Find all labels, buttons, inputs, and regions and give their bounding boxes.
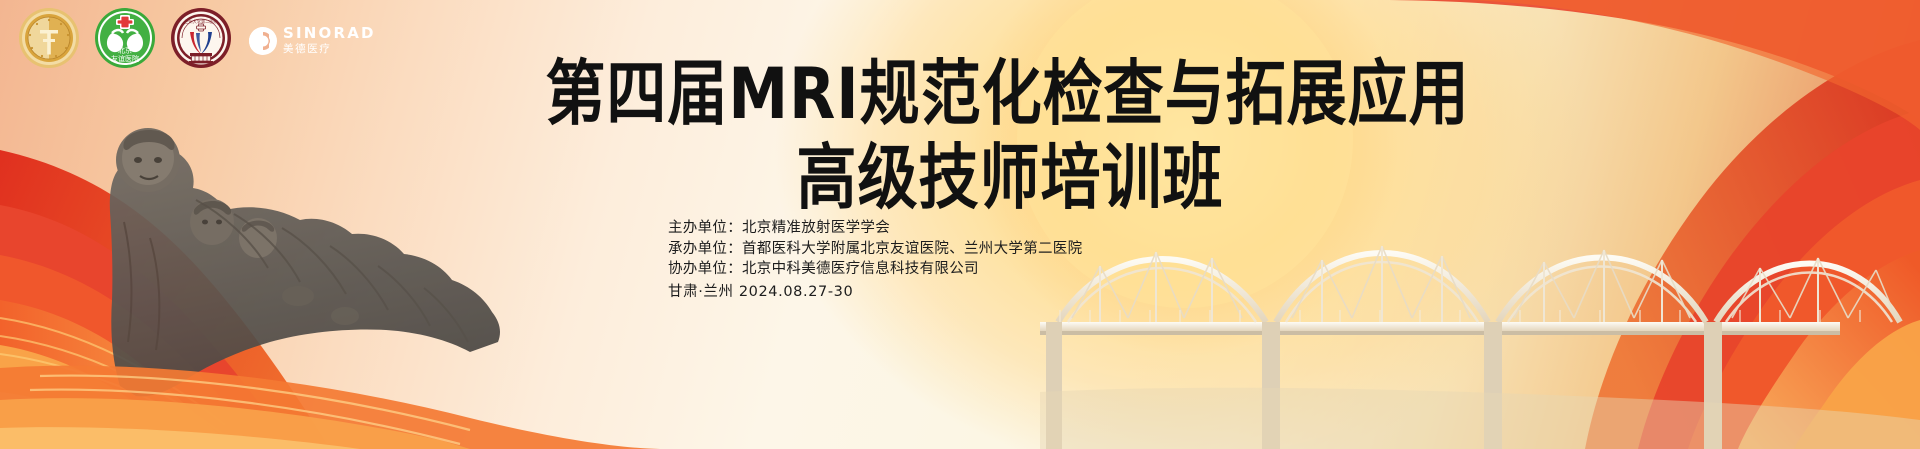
organizer-unit-line: 承办单位：首都医科大学附属北京友谊医院、兰州大学第二医院 [668,239,1082,260]
location-date-line: 甘肃·兰州 2024.08.27-30 [668,282,1082,303]
logo-row: 北京 友谊医院 兰州大学第二医院 [18,7,376,74]
gold-medallion-logo [18,7,80,74]
conference-banner: 北京 友谊医院 兰州大学第二医院 [0,0,1920,449]
svg-text:友谊医院: 友谊医院 [111,54,139,63]
sinorad-brand-name-cn: 美德医疗 [283,44,376,55]
sinorad-mark-icon [248,26,278,56]
lanzhou-university-second-hospital-logo: 兰州大学第二医院 [170,7,232,74]
sinorad-brand-name: SINORAD [283,26,376,41]
mogao-mural-illustration [110,128,500,396]
svg-text:北京: 北京 [118,46,132,55]
organizer-info-block: 主办单位：北京精准放射医学学会 承办单位：首都医科大学附属北京友谊医院、兰州大学… [668,218,1082,302]
sinorad-logo: SINORAD 美德医疗 [248,26,376,56]
host-unit-line: 主办单位：北京精准放射医学学会 [668,218,1082,239]
co-organizer-unit-line: 协办单位：北京中科美德医疗信息科技有限公司 [668,259,1082,280]
beijing-friendship-hospital-logo: 北京 友谊医院 [94,7,156,74]
